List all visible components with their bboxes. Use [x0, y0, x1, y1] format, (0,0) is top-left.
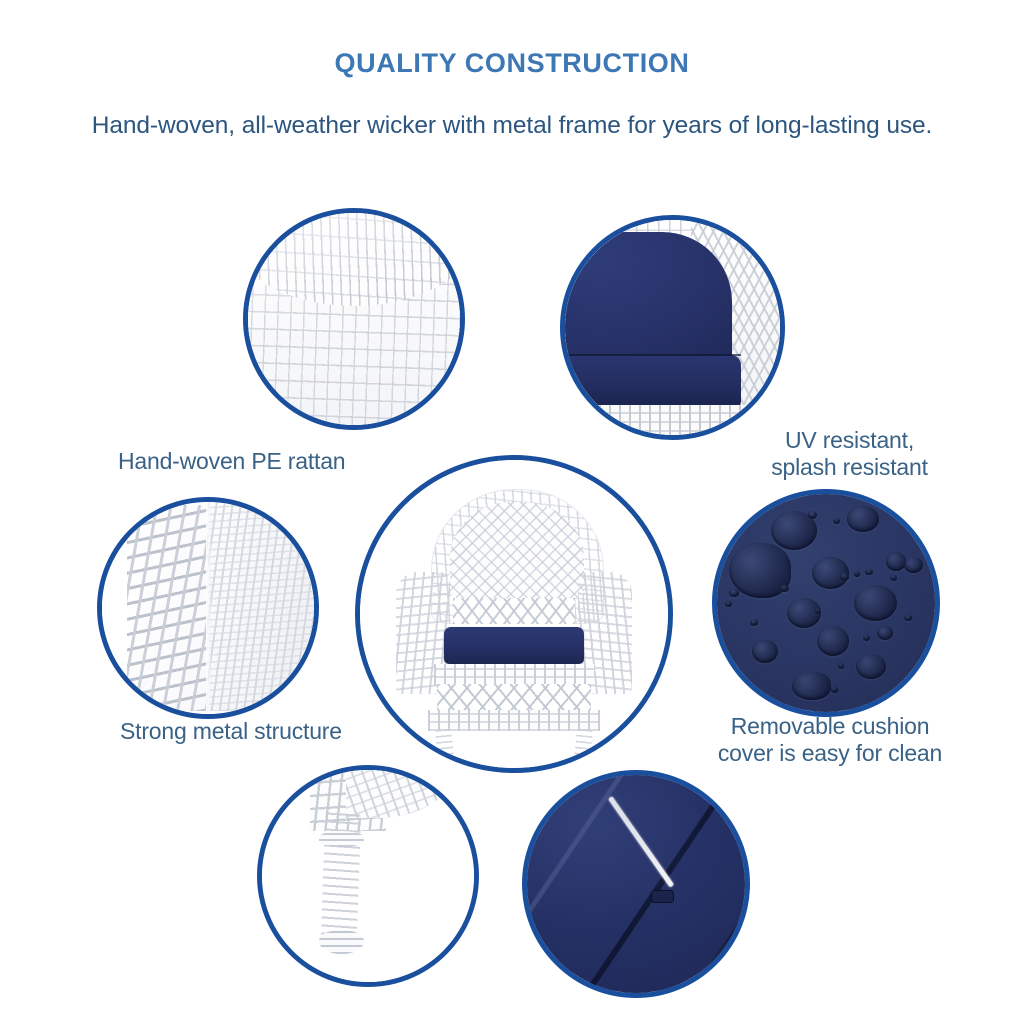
infographic-page: QUALITY CONSTRUCTION Hand-woven, all-wea… [0, 0, 1024, 1024]
feature-image-uv-splash-resistant [560, 215, 785, 440]
caption-uv-splash-resistant: UV resistant, splash resistant [727, 427, 972, 481]
page-subtitle: Hand-woven, all-weather wicker with meta… [0, 112, 1024, 140]
page-title: QUALITY CONSTRUCTION [0, 48, 1024, 79]
feature-image-hand-woven-pe-rattan [243, 208, 465, 430]
caption-removable-cushion-cover: Removable cushion cover is easy for clea… [705, 713, 955, 767]
feature-image-strong-metal-structure [97, 497, 319, 719]
feature-image-cushion-zipper [522, 770, 750, 998]
caption-strong-metal-structure: Strong metal structure [120, 718, 440, 745]
feature-image-wicker-chair-leg [257, 765, 479, 987]
feature-image-removable-cushion-cover [712, 489, 940, 717]
